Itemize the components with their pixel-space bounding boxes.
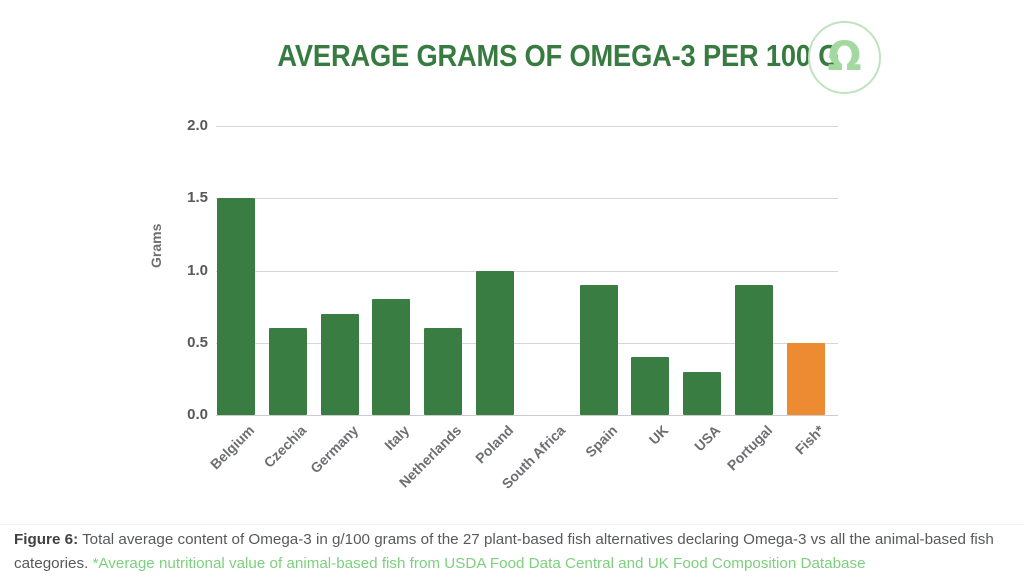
x-tick-label: USA: [691, 422, 723, 454]
y-tick-label: 0.0: [176, 406, 208, 423]
x-tick-label: Germany: [307, 422, 361, 476]
omega-symbol-icon: Ω: [827, 37, 861, 77]
caption-footnote: *Average nutritional value of animal-bas…: [93, 555, 866, 572]
bar-uk: [631, 357, 669, 415]
bar-belgium: [217, 198, 255, 415]
chart-figure: AVERAGE GRAMS OF OMEGA-3 PER 100 G Ω Gra…: [0, 0, 1024, 587]
x-tick-label: Italy: [382, 422, 413, 453]
x-tick-label: Spain: [582, 422, 620, 460]
gridline-1.0: [216, 271, 838, 272]
y-tick-label: 1.0: [176, 262, 208, 279]
chart-title: AVERAGE GRAMS OF OMEGA-3 PER 100 G: [277, 38, 752, 74]
bar-fish: [787, 343, 825, 415]
bar-poland: [476, 271, 514, 416]
x-tick-label: Czechia: [260, 422, 309, 471]
y-axis-label: Grams: [148, 224, 164, 268]
bar-netherlands: [424, 328, 462, 415]
x-tick-label: Portugal: [724, 422, 775, 473]
gridline-2.0: [216, 126, 838, 127]
bar-portugal: [735, 285, 773, 415]
figure-caption: Figure 6: Total average content of Omega…: [14, 528, 1018, 576]
bar-spain: [580, 285, 618, 415]
x-axis-baseline: [216, 415, 838, 416]
x-tick-label: UK: [646, 422, 672, 448]
bar-germany: [321, 314, 359, 415]
bar-usa: [683, 372, 721, 415]
bar-italy: [372, 299, 410, 415]
x-tick-label: Poland: [472, 422, 516, 466]
figure-number-label: Figure 6:: [14, 531, 78, 548]
plot-area: [216, 126, 838, 415]
x-tick-label: Fish*: [792, 422, 828, 458]
omega-logo-icon: Ω: [808, 21, 881, 94]
y-tick-label: 0.5: [176, 334, 208, 351]
y-tick-label: 1.5: [176, 189, 208, 206]
caption-divider: [0, 524, 1024, 525]
y-tick-label: 2.0: [176, 117, 208, 134]
bar-czechia: [269, 328, 307, 415]
x-tick-label: Belgium: [207, 422, 257, 472]
gridline-1.5: [216, 198, 838, 199]
